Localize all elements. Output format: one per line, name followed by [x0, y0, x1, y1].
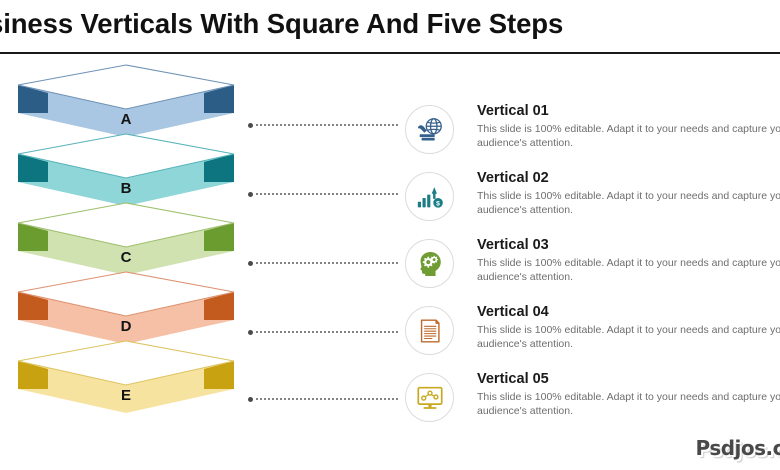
- vertical-row-2[interactable]: $ Vertical 02 This slide is 100% editabl…: [405, 169, 780, 231]
- connector-line-3: [248, 258, 400, 268]
- vertical-row-1-body: This slide is 100% editable. Adapt it to…: [477, 123, 780, 150]
- connector-line-5: [248, 394, 400, 404]
- vertical-row-4-text: Vertical 04 This slide is 100% editable.…: [477, 303, 780, 351]
- vertical-row-5-body: This slide is 100% editable. Adapt it to…: [477, 391, 780, 418]
- monitor-network-icon: [405, 373, 454, 422]
- svg-text:$: $: [436, 200, 440, 207]
- vertical-row-5-heading: Vertical 05: [477, 370, 780, 388]
- connector-dash-5: [255, 398, 400, 400]
- vertical-row-1[interactable]: Vertical 01 This slide is 100% editable.…: [405, 102, 780, 164]
- head-with-gears-icon: [405, 239, 454, 288]
- title-area: siness Verticals With Square And Five St…: [0, 0, 780, 53]
- connector-dot-3: [248, 261, 253, 266]
- vertical-row-5-text: Vertical 05 This slide is 100% editable.…: [477, 370, 780, 418]
- connector-dot-5: [248, 397, 253, 402]
- vertical-row-5[interactable]: Vertical 05 This slide is 100% editable.…: [405, 370, 780, 432]
- vertical-row-3-text: Vertical 03 This slide is 100% editable.…: [477, 236, 780, 284]
- vertical-row-2-heading: Vertical 02: [477, 169, 780, 187]
- layer-stack: A B C: [0, 53, 250, 470]
- vertical-row-4-body: This slide is 100% editable. Adapt it to…: [477, 324, 780, 351]
- vertical-row-1-heading: Vertical 01: [477, 102, 780, 120]
- connector-line-4: [248, 327, 400, 337]
- stack-layer-e[interactable]: E: [18, 341, 234, 429]
- connector-dash-1: [255, 124, 400, 126]
- vertical-row-3-body: This slide is 100% editable. Adapt it to…: [477, 257, 780, 284]
- globe-in-hand-icon: [405, 105, 454, 154]
- growth-bar-chart-dollar-icon: $: [405, 172, 454, 221]
- connector-line-2: [248, 189, 400, 199]
- vertical-row-2-text: Vertical 02 This slide is 100% editable.…: [477, 169, 780, 217]
- connector-dot-2: [248, 192, 253, 197]
- connector-dash-2: [255, 193, 400, 195]
- page-title: siness Verticals With Square And Five St…: [0, 4, 780, 44]
- watermark: Psdjos.c: [696, 436, 780, 460]
- vertical-row-3[interactable]: Vertical 03 This slide is 100% editable.…: [405, 236, 780, 298]
- vertical-row-1-text: Vertical 01 This slide is 100% editable.…: [477, 102, 780, 150]
- connector-dot-4: [248, 330, 253, 335]
- connector-dash-4: [255, 331, 400, 333]
- document-lines-icon: [405, 306, 454, 355]
- connector-dot-1: [248, 123, 253, 128]
- vertical-row-4[interactable]: Vertical 04 This slide is 100% editable.…: [405, 303, 780, 365]
- slide-canvas: siness Verticals With Square And Five St…: [0, 0, 780, 470]
- vertical-row-4-heading: Vertical 04: [477, 303, 780, 321]
- vertical-row-3-heading: Vertical 03: [477, 236, 780, 254]
- connector-line-1: [248, 120, 400, 130]
- vertical-row-2-body: This slide is 100% editable. Adapt it to…: [477, 190, 780, 217]
- connector-dash-3: [255, 262, 400, 264]
